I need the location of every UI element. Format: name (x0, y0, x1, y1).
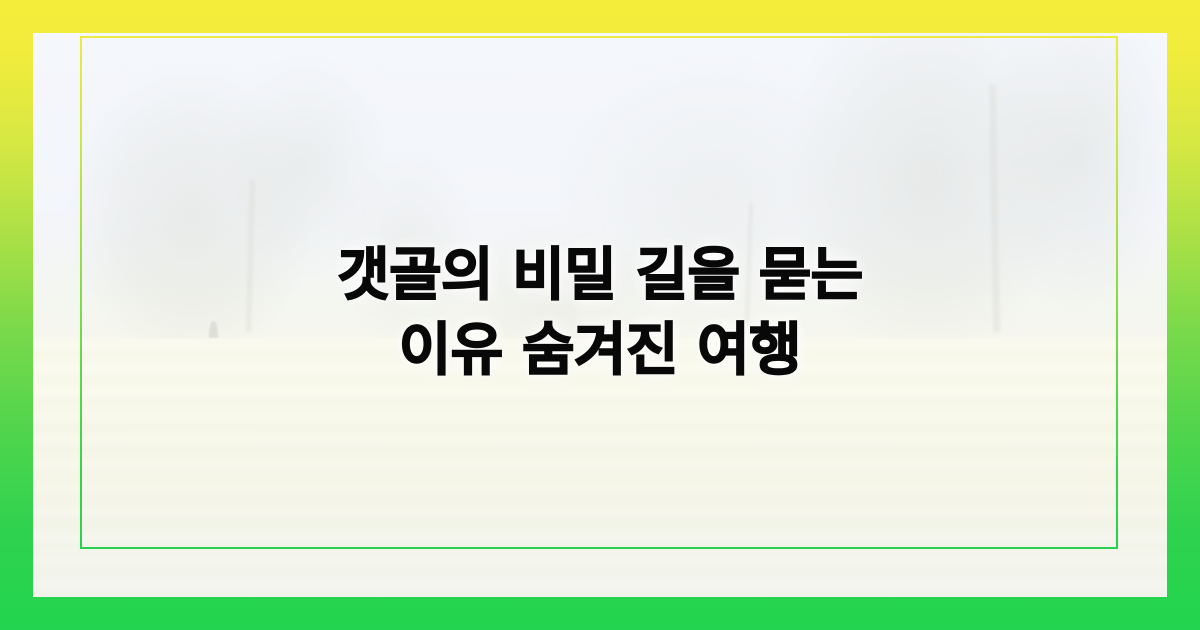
headline-line-1: 갯골의 비밀 길을 묻는 (337, 238, 863, 313)
background-photo-panel: 갯골의 비밀 길을 묻는 이유 숨겨진 여행 (33, 33, 1167, 597)
headline-block: 갯골의 비밀 길을 묻는 이유 숨겨진 여행 (33, 33, 1167, 597)
headline-line-2: 이유 숨겨진 여행 (399, 313, 801, 388)
thumbnail-canvas: 갯골의 비밀 길을 묻는 이유 숨겨진 여행 (0, 0, 1200, 630)
